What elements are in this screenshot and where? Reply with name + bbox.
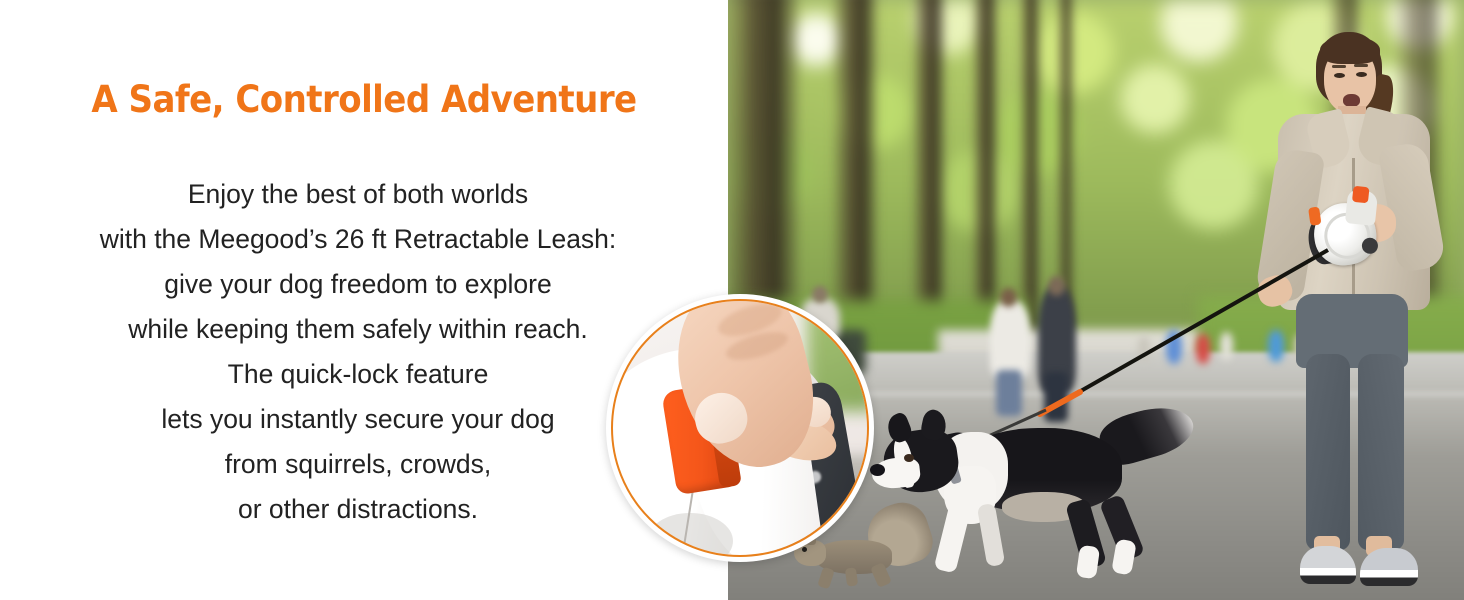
leash-handle-orange-trim — [1308, 206, 1321, 225]
distant-figure — [1166, 330, 1182, 364]
woman-leg-left — [1306, 354, 1350, 550]
squirrel-leg-mid — [845, 567, 858, 586]
quick-lock-closeup-inset — [606, 294, 874, 562]
body-line: or other distractions. — [0, 487, 716, 532]
distant-figure — [1220, 332, 1233, 360]
description-text: Enjoy the best of both worlds with the M… — [0, 172, 716, 532]
product-feature-banner: A Safe, Controlled Adventure Enjoy the b… — [0, 0, 1464, 600]
dog-hind-paw-right — [1111, 539, 1137, 576]
dog-eye — [904, 454, 914, 462]
woman-eyebrow-left — [1332, 65, 1346, 68]
distant-figure — [1196, 334, 1210, 364]
body-line: The quick-lock feature — [0, 352, 716, 397]
squirrel-leg-front — [817, 567, 835, 590]
quick-lock-closeup-photo — [613, 301, 867, 555]
background-walker-man-head — [1048, 276, 1065, 296]
woman-fringe — [1320, 36, 1380, 64]
background-walker-woman — [990, 300, 1030, 378]
retractable-leash-handle — [1309, 191, 1397, 275]
leash-brake-button — [1352, 186, 1370, 204]
dog-front-leg-right — [977, 503, 1005, 567]
woman-sneaker-left — [1300, 546, 1356, 584]
woman-leg-right — [1358, 354, 1404, 550]
page-title: A Safe, Controlled Adventure — [29, 78, 699, 121]
body-line: give your dog freedom to explore — [0, 262, 716, 307]
woman-eye-right — [1356, 72, 1367, 77]
dog-hind-paw-left — [1076, 545, 1100, 579]
body-line: while keeping them safely within reach. — [0, 307, 716, 352]
body-line: with the Meegood’s 26 ft Retractable Lea… — [0, 217, 716, 262]
woman-dog-walker — [1252, 18, 1464, 600]
body-line: Enjoy the best of both worlds — [0, 172, 716, 217]
woman-sneaker-right — [1360, 548, 1418, 586]
woman-eyebrow-right — [1354, 64, 1368, 67]
distant-figure — [1138, 336, 1150, 362]
background-walker-woman-head — [1000, 288, 1017, 307]
dog-nose — [870, 464, 885, 476]
tree-trunk — [1020, 0, 1040, 342]
woman-eye-left — [1334, 73, 1345, 78]
